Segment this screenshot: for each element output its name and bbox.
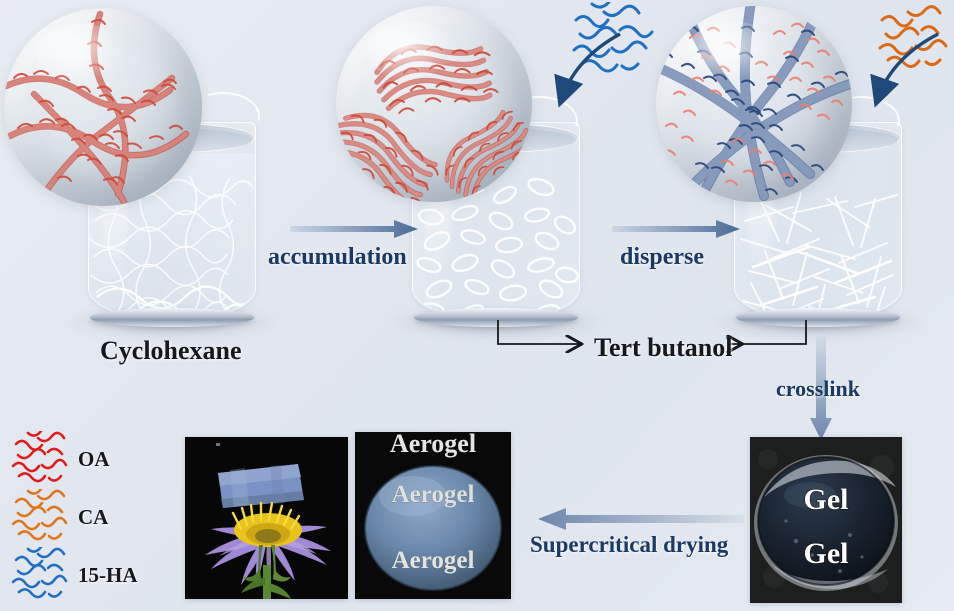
- photo-aerogel-disc: Aerogel Aerogel Aerogel: [355, 432, 511, 599]
- magnifier-1: [4, 8, 202, 206]
- ca-symbol-icon: [8, 489, 70, 545]
- svg-text:Gel: Gel: [804, 483, 849, 516]
- legend-item-15ha: 15-HA: [8, 546, 138, 604]
- oa-symbol-icon: [8, 431, 70, 487]
- arrow-accumulation: [290, 218, 422, 244]
- legend-item-oa: OA: [8, 430, 138, 488]
- photo-gel-disc: Gel Gel: [750, 437, 902, 603]
- label-accumulation: accumulation: [268, 244, 407, 271]
- arrow-disperse: [612, 218, 744, 244]
- sphere-highlight: [36, 24, 127, 83]
- sphere-highlight: [367, 22, 457, 81]
- sphere-highlight: [687, 22, 777, 81]
- figure-canvas: accumulation disperse Cyclohexane Tert b…: [0, 0, 954, 611]
- pointer-arrow-15ha: [524, 28, 624, 128]
- beaker-base: [90, 308, 254, 327]
- flower-illustration: [185, 437, 348, 599]
- label-cyclohexane: Cyclohexane: [100, 336, 242, 366]
- pointer-arrow-ca: [846, 30, 946, 130]
- legend-label-oa: OA: [78, 447, 110, 472]
- label-disperse: disperse: [620, 244, 704, 271]
- magnifier-3: [656, 6, 852, 202]
- legend-label-ca: CA: [78, 505, 108, 530]
- arrow-supercritical-drying: [528, 506, 744, 534]
- 15ha-symbol-icon: [8, 547, 70, 603]
- photo-aerogel-on-flower: [185, 437, 348, 599]
- svg-text:Aerogel: Aerogel: [392, 481, 475, 508]
- legend: OA CA: [8, 430, 138, 604]
- label-crosslink: crosslink: [776, 376, 860, 402]
- svg-text:Aerogel: Aerogel: [390, 432, 476, 458]
- legend-item-ca: CA: [8, 488, 138, 546]
- label-tert-butanol: Tert butanol: [594, 333, 732, 363]
- magnifier-2: [336, 6, 532, 202]
- gel-disc-illustration: Gel Gel: [750, 437, 902, 603]
- aerogel-disc-illustration: Aerogel Aerogel Aerogel: [355, 432, 511, 599]
- legend-label-15ha: 15-HA: [78, 563, 138, 588]
- svg-text:Gel: Gel: [804, 537, 849, 570]
- label-supercritical-drying: Supercritical drying: [530, 532, 728, 558]
- svg-text:Aerogel: Aerogel: [392, 547, 475, 574]
